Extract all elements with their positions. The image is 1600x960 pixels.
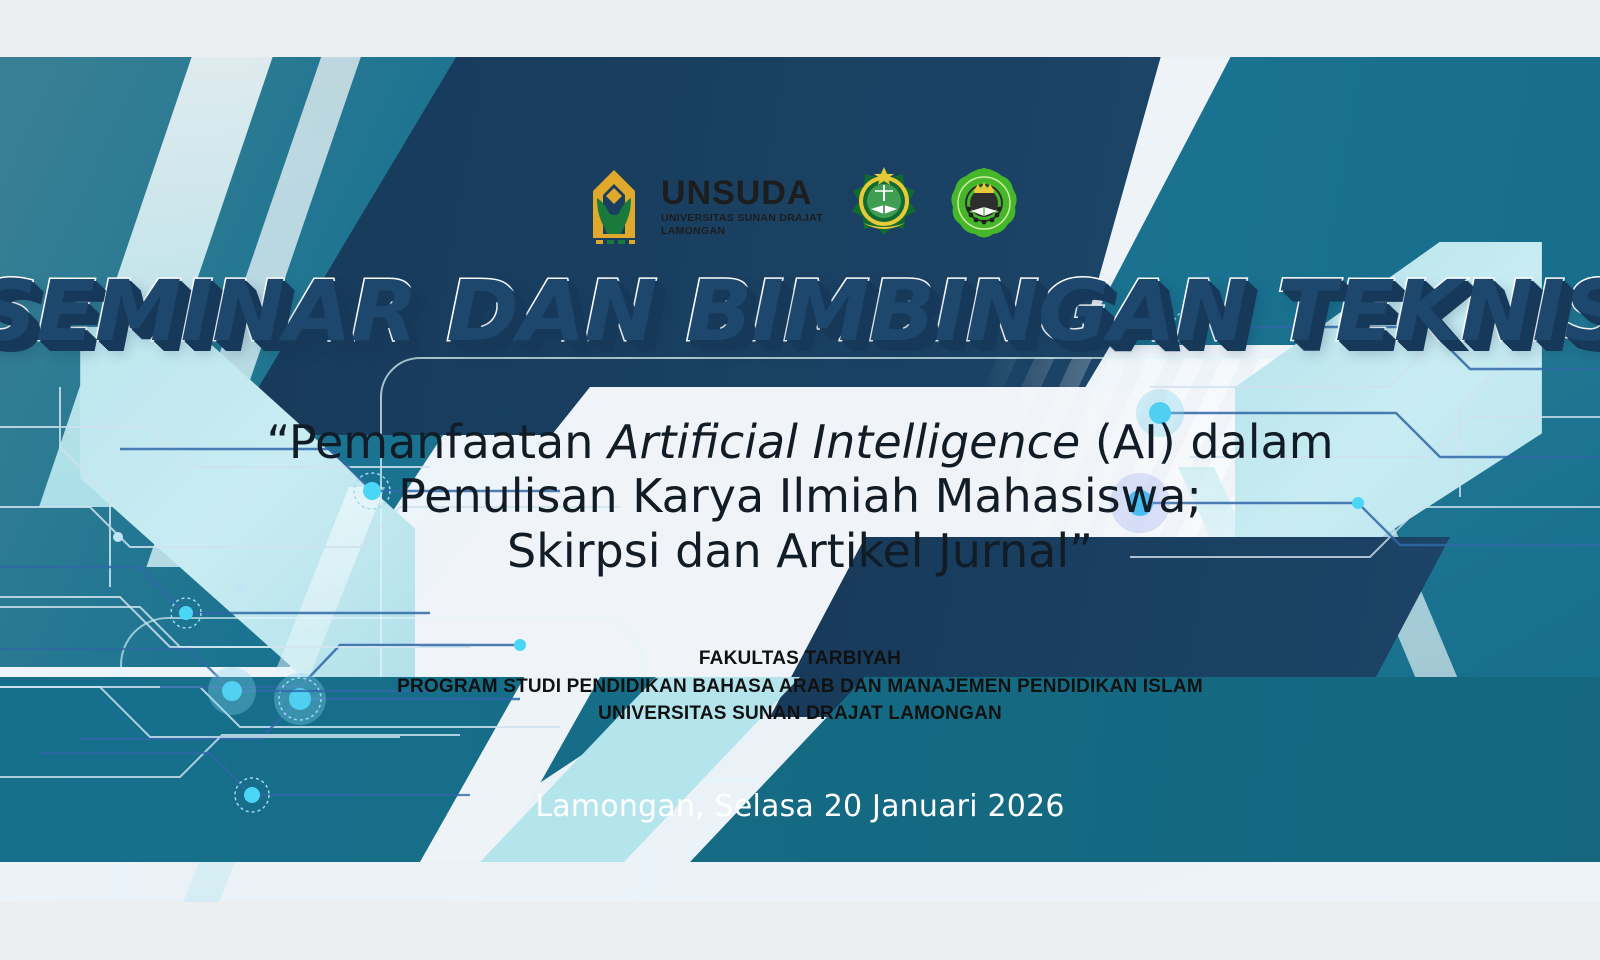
faculty-line-1: FAKULTAS TARBIYAH — [150, 645, 1450, 673]
logo-row: UNSUDA UNIVERSITAS SUNAN DRAJAT LAMONGAN — [0, 165, 1600, 247]
unsuda-logo: UNSUDA UNIVERSITAS SUNAN DRAJAT LAMONGAN — [577, 168, 823, 244]
event-date: Lamongan, Selasa 20 Januari 2026 — [0, 789, 1600, 824]
title-container: SEMINAR DAN BIMBINGAN TEKNIS — [0, 262, 1600, 360]
page-title: SEMINAR DAN BIMBINGAN TEKNIS — [0, 262, 1600, 360]
unsuda-crest-icon — [577, 168, 651, 244]
subtitle-line-2: Penulisan Karya Ilmiah Mahasiswa; — [210, 469, 1390, 523]
faculty-block: FAKULTAS TARBIYAH PROGRAM STUDI PENDIDIK… — [150, 645, 1450, 728]
university-seal-icon — [945, 165, 1023, 247]
subtitle-line1-post: (AI) dalam — [1080, 415, 1333, 469]
kemenag-emblem-icon — [845, 165, 923, 247]
subtitle-line1-pre: “Pemanfaatan — [266, 415, 608, 469]
unsuda-name: UNSUDA — [661, 176, 823, 210]
faculty-line-2: PROGRAM STUDI PENDIDIKAN BAHASA ARAB DAN… — [150, 673, 1450, 701]
unsuda-subtitle-line1: UNIVERSITAS SUNAN DRAJAT — [661, 213, 823, 224]
subtitle-line-1: “Pemanfaatan Artificial Intelligence (AI… — [210, 415, 1390, 469]
banner-artboard: UNSUDA UNIVERSITAS SUNAN DRAJAT LAMONGAN — [0, 57, 1600, 902]
subtitle-line-3: Skirpsi dan Artikel Jurnal” — [210, 524, 1390, 578]
faculty-line-3: UNIVERSITAS SUNAN DRAJAT LAMONGAN — [150, 700, 1450, 728]
unsuda-subtitle-line2: LAMONGAN — [661, 226, 823, 237]
seminar-subtitle: “Pemanfaatan Artificial Intelligence (AI… — [210, 415, 1390, 578]
subtitle-line1-emphasis: Artificial Intelligence — [608, 415, 1080, 469]
unsuda-wordmark: UNSUDA UNIVERSITAS SUNAN DRAJAT LAMONGAN — [661, 176, 823, 237]
seminar-banner: UNSUDA UNIVERSITAS SUNAN DRAJAT LAMONGAN — [0, 0, 1600, 960]
